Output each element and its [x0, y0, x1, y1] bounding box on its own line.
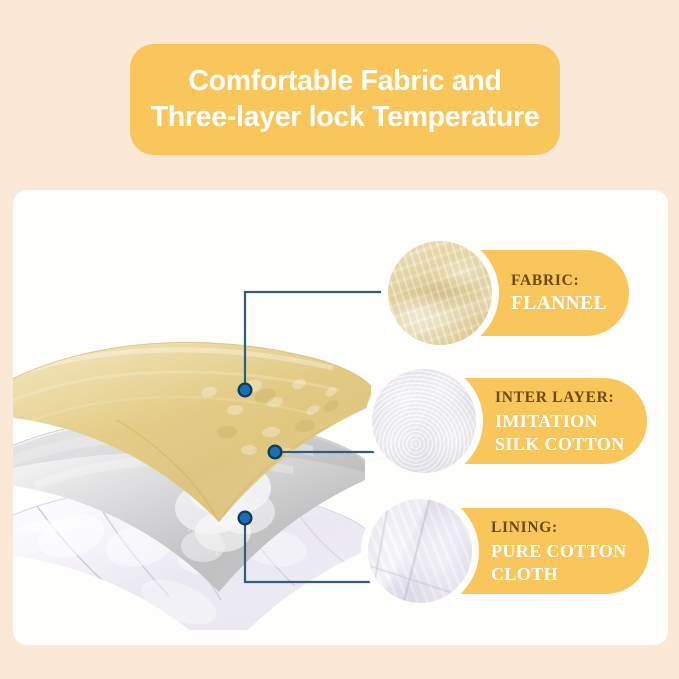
quilted-cotton-cloth-swatch	[361, 492, 479, 610]
badge-value-lining-line-1: PURE COTTON	[491, 541, 627, 561]
badge-value-inter-layer-line-1: IMITATION	[495, 411, 625, 431]
info-row-lining[interactable]: LINING: PURE COTTON CLOTH	[361, 492, 668, 610]
silk-cotton-texture	[372, 369, 476, 473]
info-row-inter-layer[interactable]: INTER LAYER: IMITATION SILK COTTON	[365, 362, 668, 480]
badge-value-lining-line-2: CLOTH	[491, 564, 627, 584]
header-banner: Comfortable Fabric and Three-layer lock …	[130, 44, 560, 155]
badge-value-fabric: FLANNEL	[511, 293, 607, 315]
header-title-line-1: Comfortable Fabric and	[188, 64, 501, 100]
flannel-texture-swatch	[381, 234, 499, 352]
badge-label-lining: LINING:	[491, 518, 627, 537]
silk-cotton-swatch-image	[372, 369, 476, 473]
badge-label-fabric: FABRIC:	[511, 271, 607, 290]
badge-label-inter-layer: INTER LAYER:	[495, 388, 625, 407]
flannel-texture	[388, 241, 492, 345]
silk-cotton-fill-swatch	[365, 362, 483, 480]
content-panel: FABRIC: FLANNEL INTER LAYER: IMITATION S…	[13, 190, 668, 645]
header-title-line-2: Three-layer lock Temperature	[151, 100, 540, 136]
flannel-swatch-image	[388, 241, 492, 345]
info-row-fabric[interactable]: FABRIC: FLANNEL	[381, 234, 668, 352]
quilted-cotton-texture	[368, 499, 472, 603]
badge-value-inter-layer-line-2: SILK COTTON	[495, 434, 625, 454]
quilted-cotton-swatch-image	[368, 499, 472, 603]
three-layer-fabric-illustration	[13, 340, 373, 630]
